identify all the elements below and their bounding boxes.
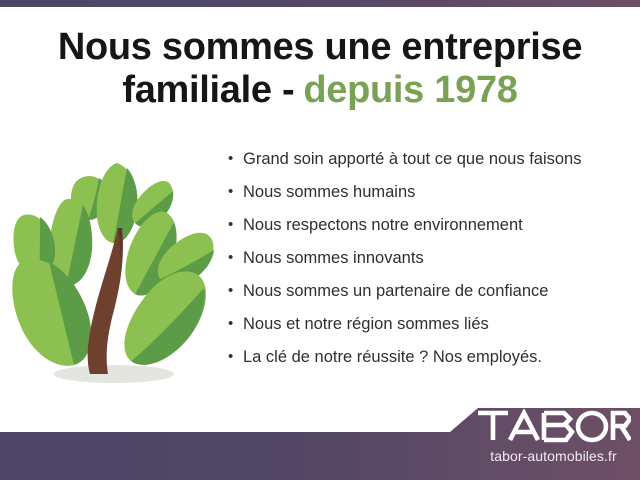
bullet-dot-icon: • (228, 214, 243, 236)
tabor-wordmark (476, 409, 631, 443)
bullet-dot-icon: • (228, 346, 243, 368)
benefits-list: • Grand soin apporté à tout ce que nous … (228, 148, 628, 379)
list-item: • Nous sommes un partenaire de confiance (228, 280, 628, 313)
list-item-label: La clé de notre réussite ? Nos employés. (243, 346, 542, 368)
list-item: • Grand soin apporté à tout ce que nous … (228, 148, 628, 181)
tree-trunk (88, 228, 123, 374)
bullet-dot-icon: • (228, 280, 243, 302)
bullet-dot-icon: • (228, 148, 243, 170)
list-item: • Nous sommes innovants (228, 247, 628, 280)
tree-shadow-shape (54, 365, 174, 383)
brand-website-label: tabor-automobiles.fr (476, 448, 631, 464)
title-line-2-accent: depuis 1978 (303, 69, 517, 111)
list-item: • Nous et notre région sommes liés (228, 313, 628, 346)
list-item-label: Nous sommes un partenaire de confiance (243, 280, 548, 302)
list-item: • Nous respectons notre environnement (228, 214, 628, 247)
top-accent-bar (0, 0, 640, 7)
bullet-dot-icon: • (228, 181, 243, 203)
bullet-dot-icon: • (228, 313, 243, 335)
list-item-label: Nous sommes humains (243, 181, 415, 203)
list-item-label: Nous sommes innovants (243, 247, 424, 269)
list-item-label: Grand soin apporté à tout ce que nous fa… (243, 148, 581, 170)
title-line-1: Nous sommes une entreprise (58, 26, 582, 68)
list-item: • Nous sommes humains (228, 181, 628, 214)
bullet-dot-icon: • (228, 247, 243, 269)
page-title: Nous sommes une entreprise familiale -de… (0, 26, 640, 112)
tree-illustration (8, 150, 220, 392)
brand-logo[interactable]: tabor-automobiles.fr (476, 409, 640, 471)
list-item-label: Nous respectons notre environnement (243, 214, 523, 236)
leaf-top-center (97, 163, 138, 243)
list-item-label: Nous et notre région sommes liés (243, 313, 489, 335)
list-item: • La clé de notre réussite ? Nos employé… (228, 346, 628, 379)
slide-canvas: Nous sommes une entreprise familiale -de… (0, 0, 640, 480)
title-line-2-black: familiale - (122, 69, 294, 111)
